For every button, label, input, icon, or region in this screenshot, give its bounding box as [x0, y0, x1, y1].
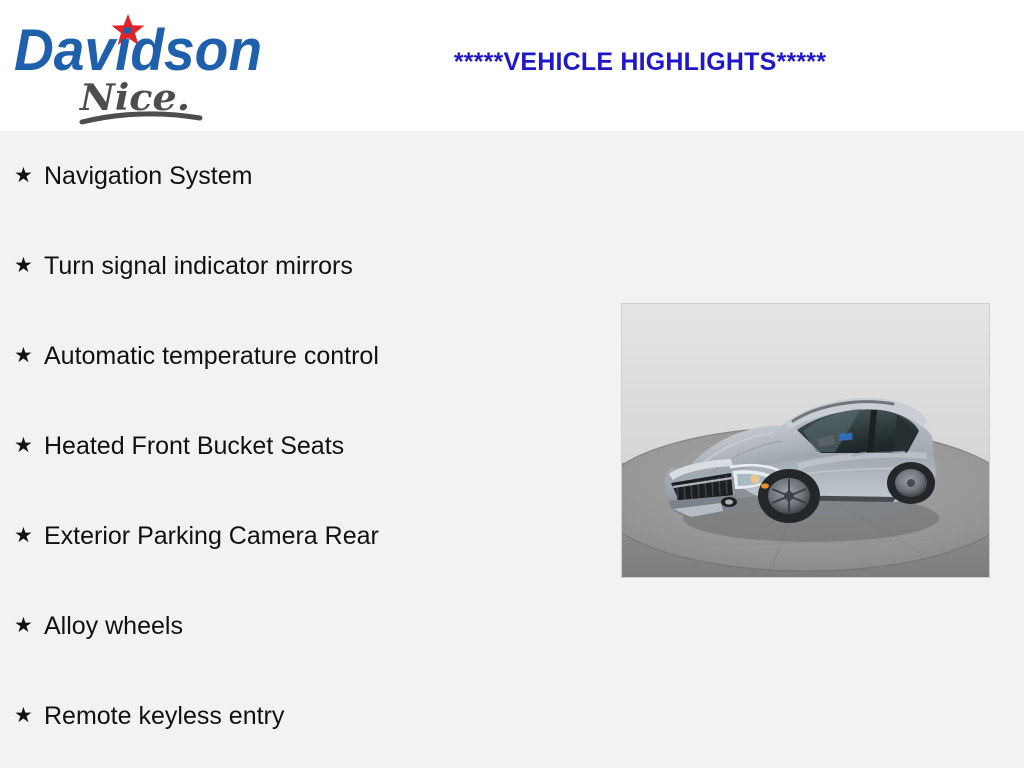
- star-bullet-icon: ★: [14, 581, 33, 671]
- list-item: ★ Automatic temperature control: [0, 311, 600, 401]
- front-wheel: [758, 469, 820, 523]
- list-item-label: Turn signal indicator mirrors: [44, 252, 353, 280]
- rear-wheel: [887, 462, 935, 504]
- list-item: ★ Navigation System: [0, 131, 600, 221]
- list-item-label: Exterior Parking Camera Rear: [44, 522, 379, 550]
- list-item-label: Automatic temperature control: [44, 342, 379, 370]
- dealer-logo: Davidson Nice.: [10, 8, 270, 126]
- list-item: ★ Heated Front Bucket Seats: [0, 401, 600, 491]
- vehicle-highlights-list: ★ Navigation System ★ Turn signal indica…: [0, 131, 600, 761]
- star-bullet-icon: ★: [14, 221, 33, 311]
- svg-text:Davidson: Davidson: [14, 18, 262, 83]
- list-item: ★ Remote keyless entry: [0, 671, 600, 761]
- vehicle-highlights-page: Davidson Nice. *****VEHICLE HIGHLIGHTS**…: [0, 0, 1024, 768]
- page-title: *****VEHICLE HIGHLIGHTS*****: [360, 48, 920, 77]
- list-item-label: Remote keyless entry: [44, 702, 284, 730]
- star-bullet-icon: ★: [14, 311, 33, 401]
- list-item-label: Navigation System: [44, 162, 252, 190]
- star-bullet-icon: ★: [14, 671, 33, 761]
- star-bullet-icon: ★: [14, 401, 33, 491]
- list-item: ★ Alloy wheels: [0, 581, 600, 671]
- list-item: ★ Exterior Parking Camera Rear: [0, 491, 600, 581]
- star-bullet-icon: ★: [14, 491, 33, 581]
- vehicle-photo: [621, 303, 990, 578]
- page-content: ★ Navigation System ★ Turn signal indica…: [0, 131, 1024, 768]
- list-item: ★ Turn signal indicator mirrors: [0, 221, 600, 311]
- list-item-label: Alloy wheels: [44, 612, 183, 640]
- star-bullet-icon: ★: [14, 131, 33, 221]
- list-item-label: Heated Front Bucket Seats: [44, 432, 344, 460]
- page-header: Davidson Nice. *****VEHICLE HIGHLIGHTS**…: [0, 0, 1024, 131]
